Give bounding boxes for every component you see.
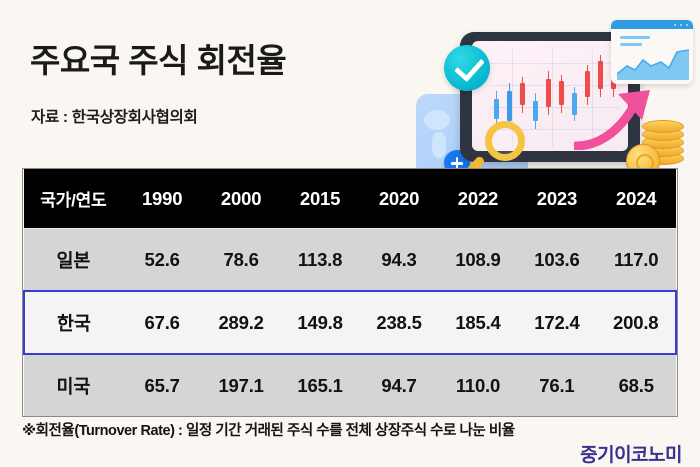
infographic-page: 주요국 주식 회전율 자료 : 한국상장회사협의회 xyxy=(0,0,700,467)
cell-japan-2020: 94.3 xyxy=(360,229,439,292)
cell-korea-2015: 149.8 xyxy=(281,291,360,354)
cell-usa-2000: 197.1 xyxy=(202,354,281,416)
table-header-row: 국가/연도 1990 2000 2015 2020 2022 2023 2024 xyxy=(24,169,676,229)
cell-usa-2022: 110.0 xyxy=(438,354,517,416)
cell-usa-2023: 76.1 xyxy=(517,354,596,416)
cell-japan-2015: 113.8 xyxy=(281,229,360,292)
cell-japan-2024: 117.0 xyxy=(596,229,676,292)
column-header-2000: 2000 xyxy=(202,169,281,229)
cell-korea-2024: 200.8 xyxy=(596,291,676,354)
cell-usa-2015: 165.1 xyxy=(281,354,360,416)
table-row: 일본 52.6 78.6 113.8 94.3 108.9 103.6 117.… xyxy=(24,229,676,292)
footnote: ※회전율(Turnover Rate) : 일정 기간 거래된 주식 수를 전체… xyxy=(22,419,515,440)
cell-usa-2024: 68.5 xyxy=(596,354,676,416)
column-header-1990: 1990 xyxy=(123,169,202,229)
cell-japan-2000: 78.6 xyxy=(202,229,281,292)
row-label-usa: 미국 xyxy=(24,354,123,416)
column-header-2022: 2022 xyxy=(438,169,517,229)
coin-stack-icon xyxy=(626,114,690,176)
source-label: 자료 : 한국상장회사협의회 xyxy=(31,105,197,127)
cell-korea-1990: 67.6 xyxy=(123,291,202,354)
publisher-logo: 중기이코노미 xyxy=(580,440,682,467)
chart-window-icon xyxy=(611,20,693,84)
cell-korea-2000: 289.2 xyxy=(202,291,281,354)
check-circle-icon xyxy=(444,45,490,91)
row-label-korea: 한국 xyxy=(24,291,123,354)
cell-usa-2020: 94.7 xyxy=(360,354,439,416)
column-header-2023: 2023 xyxy=(517,169,596,229)
cell-japan-1990: 52.6 xyxy=(123,229,202,292)
cell-korea-2022: 185.4 xyxy=(438,291,517,354)
cell-korea-2020: 238.5 xyxy=(360,291,439,354)
page-title: 주요국 주식 회전율 xyxy=(30,34,286,82)
column-header-2020: 2020 xyxy=(360,169,439,229)
table-row-highlighted: 한국 67.6 289.2 149.8 238.5 185.4 172.4 20… xyxy=(24,291,676,354)
cell-usa-1990: 65.7 xyxy=(123,354,202,416)
column-header-2015: 2015 xyxy=(281,169,360,229)
cell-japan-2022: 108.9 xyxy=(438,229,517,292)
table-row: 미국 65.7 197.1 165.1 94.7 110.0 76.1 68.5 xyxy=(24,354,676,416)
column-header-country-year: 국가/연도 xyxy=(24,169,123,229)
magnifier-icon xyxy=(485,121,525,161)
cell-korea-2023: 172.4 xyxy=(517,291,596,354)
row-label-japan: 일본 xyxy=(24,229,123,292)
turnover-rate-table: 국가/연도 1990 2000 2015 2020 2022 2023 2024… xyxy=(22,168,678,417)
column-header-2024: 2024 xyxy=(596,169,676,229)
illustration xyxy=(398,18,694,190)
cell-japan-2023: 103.6 xyxy=(517,229,596,292)
